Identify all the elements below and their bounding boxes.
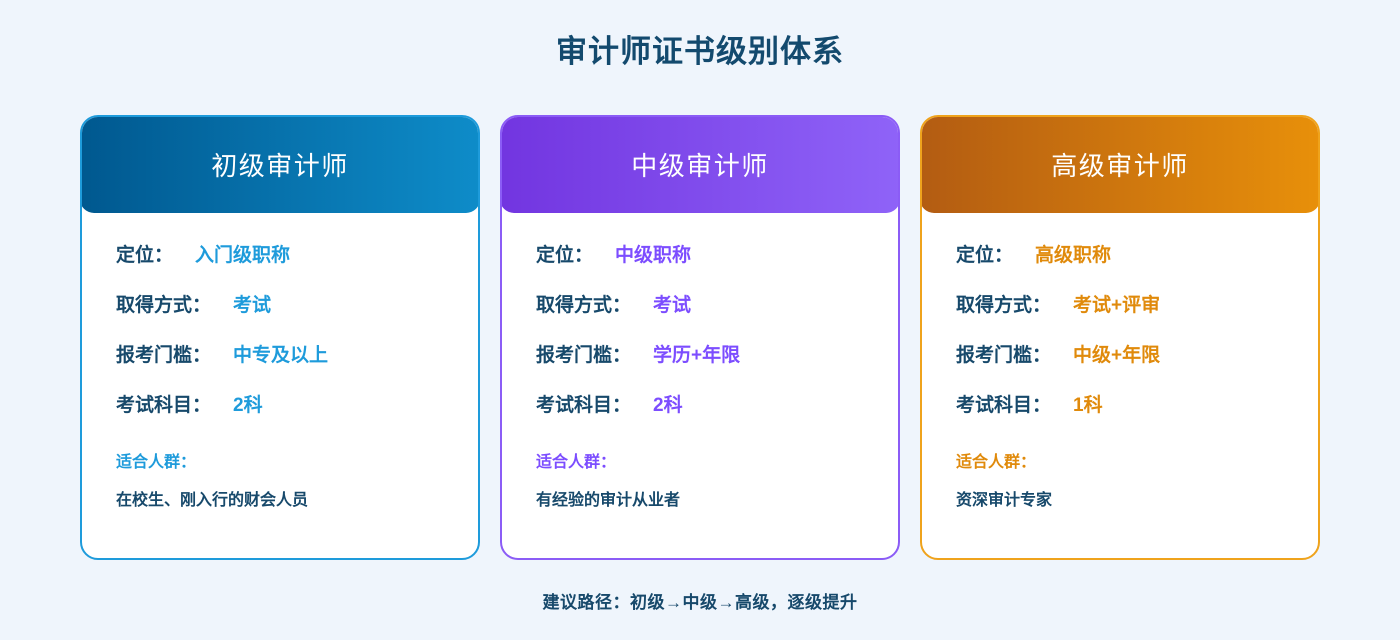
spec-label-method: 取得方式： <box>116 293 211 319</box>
card-list: 初级审计师 定位： 入门级职称 取得方式： 考试 报考门槛： 中专及以上 考试科… <box>80 115 1320 560</box>
card-header-senior: 高级审计师 <box>920 115 1320 213</box>
recommended-path-note: 建议路径：初级→中级→高级，逐级提升 <box>0 588 1400 613</box>
spec-value-threshold: 中专及以上 <box>233 343 328 369</box>
card-header-intermediate: 中级审计师 <box>500 115 900 213</box>
spec-value-positioning: 中级职称 <box>615 243 691 269</box>
spec-row-subjects: 考试科目： 2科 <box>116 393 444 419</box>
spec-label-threshold: 报考门槛： <box>956 343 1051 369</box>
spec-label-threshold: 报考门槛： <box>536 343 631 369</box>
spec-label-threshold: 报考门槛： <box>116 343 211 369</box>
card-senior-auditor[interactable]: 高级审计师 定位： 高级职称 取得方式： 考试+评审 报考门槛： 中级+年限 考… <box>920 115 1320 560</box>
audience-desc-senior: 资深审计专家 <box>956 489 1284 513</box>
card-title-intermediate: 中级审计师 <box>631 146 769 183</box>
card-body-intermediate: 定位： 中级职称 取得方式： 考试 报考门槛： 学历+年限 考试科目： 2科 适… <box>502 213 898 558</box>
audience-desc-junior: 在校生、刚入行的财会人员 <box>116 489 444 513</box>
spec-label-positioning: 定位： <box>956 243 1013 269</box>
audience-label-junior: 适合人群： <box>116 451 444 475</box>
card-header-junior: 初级审计师 <box>80 115 480 213</box>
spec-row-positioning: 定位： 入门级职称 <box>116 243 444 269</box>
spec-label-positioning: 定位： <box>536 243 593 269</box>
spec-label-subjects: 考试科目： <box>956 393 1051 419</box>
spec-value-method: 考试+评审 <box>1073 293 1160 319</box>
spec-row-threshold: 报考门槛： 学历+年限 <box>536 343 864 369</box>
spec-value-threshold: 学历+年限 <box>653 343 740 369</box>
spec-row-subjects: 考试科目： 2科 <box>536 393 864 419</box>
spec-value-positioning: 高级职称 <box>1035 243 1111 269</box>
spec-row-positioning: 定位： 高级职称 <box>956 243 1284 269</box>
spec-value-method: 考试 <box>653 293 691 319</box>
spec-value-subjects: 2科 <box>653 393 683 419</box>
spec-value-subjects: 1科 <box>1073 393 1103 419</box>
card-title-junior: 初级审计师 <box>211 146 349 183</box>
spec-label-subjects: 考试科目： <box>536 393 631 419</box>
audience-label-intermediate: 适合人群： <box>536 451 864 475</box>
spec-label-method: 取得方式： <box>536 293 631 319</box>
spec-label-subjects: 考试科目： <box>116 393 211 419</box>
card-junior-auditor[interactable]: 初级审计师 定位： 入门级职称 取得方式： 考试 报考门槛： 中专及以上 考试科… <box>80 115 480 560</box>
spec-row-threshold: 报考门槛： 中专及以上 <box>116 343 444 369</box>
spec-value-positioning: 入门级职称 <box>195 243 290 269</box>
card-body-junior: 定位： 入门级职称 取得方式： 考试 报考门槛： 中专及以上 考试科目： 2科 … <box>82 213 478 558</box>
spec-value-subjects: 2科 <box>233 393 263 419</box>
spec-row-method: 取得方式： 考试 <box>116 293 444 319</box>
card-title-senior: 高级审计师 <box>1051 146 1189 183</box>
spec-row-method: 取得方式： 考试+评审 <box>956 293 1284 319</box>
audience-label-senior: 适合人群： <box>956 451 1284 475</box>
audience-block-senior: 适合人群： 资深审计专家 <box>956 451 1284 513</box>
card-intermediate-auditor[interactable]: 中级审计师 定位： 中级职称 取得方式： 考试 报考门槛： 学历+年限 考试科目… <box>500 115 900 560</box>
spec-row-threshold: 报考门槛： 中级+年限 <box>956 343 1284 369</box>
spec-label-positioning: 定位： <box>116 243 173 269</box>
spec-label-method: 取得方式： <box>956 293 1051 319</box>
spec-value-threshold: 中级+年限 <box>1073 343 1160 369</box>
spec-value-method: 考试 <box>233 293 271 319</box>
audience-block-intermediate: 适合人群： 有经验的审计从业者 <box>536 451 864 513</box>
audience-block-junior: 适合人群： 在校生、刚入行的财会人员 <box>116 451 444 513</box>
spec-row-positioning: 定位： 中级职称 <box>536 243 864 269</box>
spec-row-method: 取得方式： 考试 <box>536 293 864 319</box>
infographic-canvas: 审计师证书级别体系 初级审计师 定位： 入门级职称 取得方式： 考试 报考门槛：… <box>0 0 1400 640</box>
card-body-senior: 定位： 高级职称 取得方式： 考试+评审 报考门槛： 中级+年限 考试科目： 1… <box>922 213 1318 558</box>
page-title: 审计师证书级别体系 <box>0 30 1400 74</box>
audience-desc-intermediate: 有经验的审计从业者 <box>536 489 864 513</box>
spec-row-subjects: 考试科目： 1科 <box>956 393 1284 419</box>
